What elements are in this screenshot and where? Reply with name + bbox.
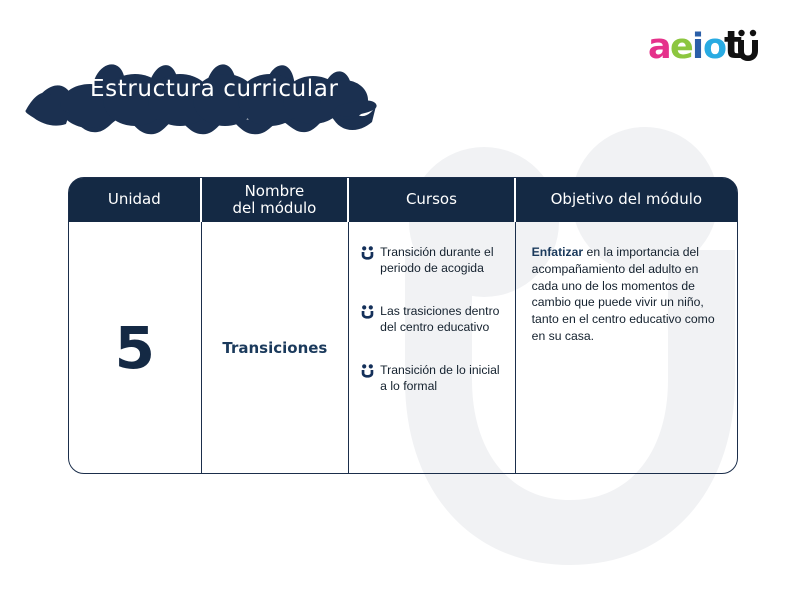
course-label: Transición de lo inicial a lo formal	[380, 362, 505, 395]
aeiotu-logo: a e i o t	[648, 22, 758, 68]
column-header-unidad: Unidad	[69, 178, 202, 222]
logo-letter-u-umlaut	[738, 30, 758, 61]
module-name: Transiciones	[202, 222, 349, 473]
column-header-cursos: Cursos	[349, 178, 516, 222]
table-header-row: Unidad Nombre del módulo Cursos Objetivo…	[69, 178, 737, 222]
list-item: Transición de lo inicial a lo formal	[361, 362, 505, 395]
logo-letter-e: e	[670, 27, 694, 67]
list-item: Las trasiciones dentro del centro educat…	[361, 303, 505, 336]
cell-objetivo: Enfatizar en la importancia del acompaña…	[516, 222, 737, 473]
curriculum-table: Unidad Nombre del módulo Cursos Objetivo…	[68, 177, 738, 474]
cell-nombre-modulo: Transiciones	[202, 222, 350, 473]
aeiotu-logo-svg: a e i o t	[648, 22, 758, 68]
page-title: Estructura curricular	[90, 76, 339, 102]
u-umlaut-bullet-icon	[361, 246, 374, 260]
page-title-block: Estructura curricular	[20, 48, 400, 148]
column-header-nombre-line1: Nombre	[245, 182, 305, 200]
cell-cursos: Transición durante el periodo de acogida…	[349, 222, 516, 473]
column-header-nombre-line2: del módulo	[232, 199, 316, 217]
logo-letter-a: a	[648, 27, 672, 67]
objective-container: Enfatizar en la importancia del acompaña…	[516, 222, 737, 345]
course-label: Las trasiciones dentro del centro educat…	[380, 303, 505, 336]
u-umlaut-bullet-icon	[361, 364, 374, 378]
column-header-objetivo: Objetivo del módulo	[516, 178, 737, 222]
column-header-nombre-modulo: Nombre del módulo	[202, 178, 350, 222]
objective-text: Enfatizar en la importancia del acompaña…	[532, 244, 723, 345]
u-umlaut-bullet-icon	[361, 305, 374, 319]
objective-lead: Enfatizar	[532, 245, 583, 259]
course-label: Transición durante el periodo de acogida	[380, 244, 505, 277]
unit-number: 5	[69, 222, 201, 473]
objective-body: en la importancia del acompañamiento del…	[532, 245, 715, 343]
cell-unidad: 5	[69, 222, 202, 473]
courses-list: Transición durante el periodo de acogida…	[349, 222, 515, 395]
table-row: 5 Transiciones Transición durante el per…	[69, 222, 737, 473]
list-item: Transición durante el periodo de acogida	[361, 244, 505, 277]
